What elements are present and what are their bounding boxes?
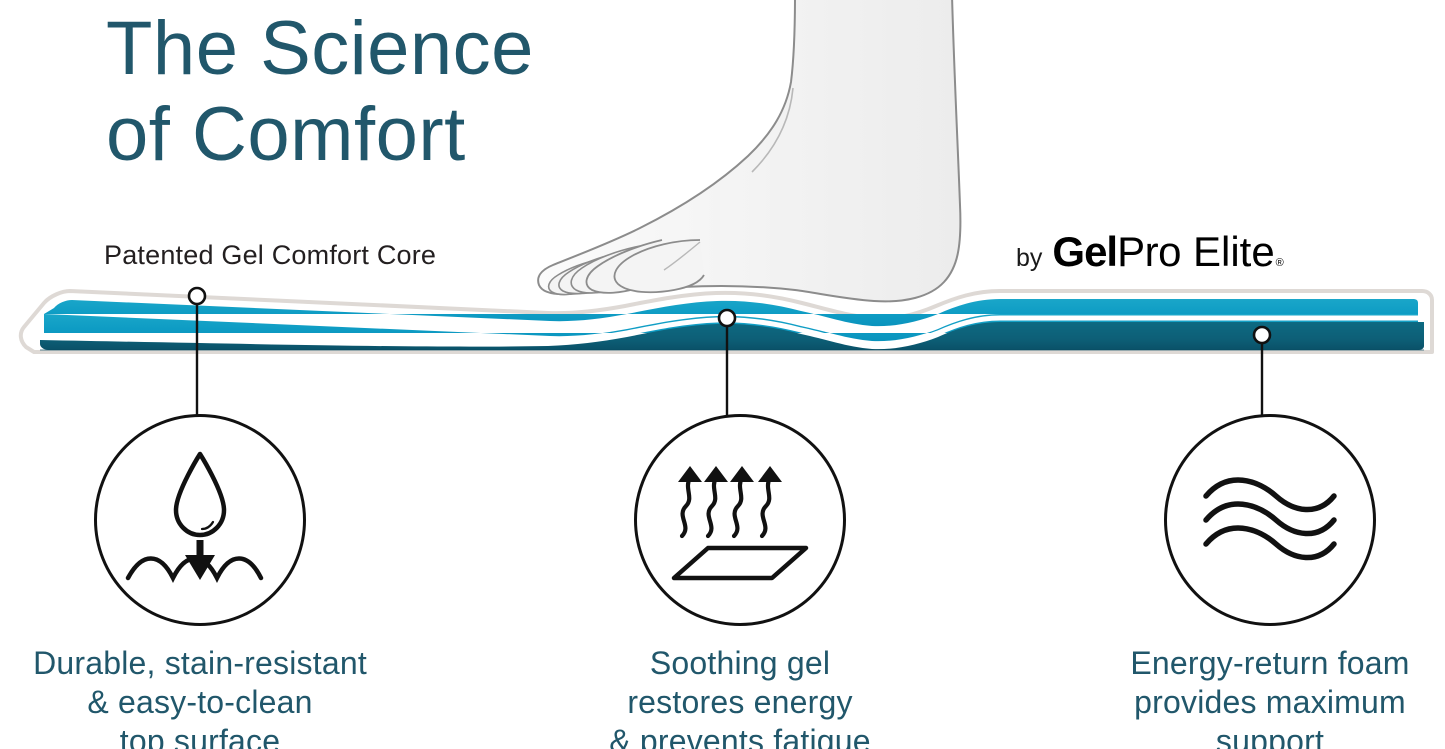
feature-caption: Soothing gel restores energy & prevents … (609, 644, 871, 749)
feature-foam-support: Energy-return foam provides maximum supp… (1060, 414, 1445, 749)
core-label: Patented Gel Comfort Core (104, 240, 436, 271)
foot-illustration (538, 0, 960, 301)
brand-prefix: by (1016, 244, 1042, 273)
foam-waves-icon (1164, 414, 1376, 626)
brand-name-gel: Gel (1052, 228, 1117, 276)
infographic-root: The Science of Comfort (0, 0, 1445, 749)
brand-logo: by Gel Pro Elite ® (1016, 228, 1284, 276)
feature-caption: Durable, stain-resistant & easy-to-clean… (33, 644, 367, 749)
feature-gel-core: Soothing gel restores energy & prevents … (530, 414, 950, 749)
droplet-into-water-icon (94, 414, 306, 626)
rising-energy-waves-icon (634, 414, 846, 626)
brand-name-elite: Elite (1193, 228, 1275, 276)
callout-foam-base (1254, 327, 1270, 418)
brand-name-pro: Pro (1117, 228, 1181, 276)
registered-trademark-icon: ® (1276, 257, 1284, 269)
feature-top-surface: Durable, stain-resistant & easy-to-clean… (0, 414, 410, 749)
feature-caption: Energy-return foam provides maximum supp… (1130, 644, 1409, 749)
